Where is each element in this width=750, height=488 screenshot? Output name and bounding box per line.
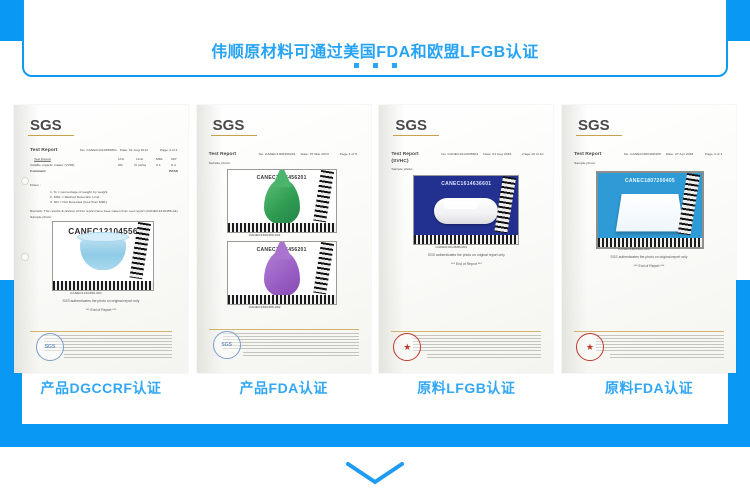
footer-contact	[427, 354, 541, 360]
report-page: Page 10 of 10	[522, 152, 543, 156]
report-date: Date: 01 Aug 2012	[120, 148, 148, 152]
note-3: 3. ND = Not Detected (less than MDL)	[50, 200, 107, 204]
caption-cert-2: 产品FDA认证	[197, 378, 371, 398]
ruler-bottom	[598, 238, 702, 247]
report-number: No. CANEC1306456201	[259, 152, 296, 156]
certificate-card-4[interactable]: SGS Test Report No. CANEC1807200405 Date…	[562, 105, 736, 373]
report-sublabel: (SVHC)	[391, 158, 408, 163]
report-page: Page 4 of 4	[160, 148, 177, 152]
footer-fineprint	[223, 333, 359, 349]
caption-cert-4: 原料FDA认证	[562, 378, 736, 398]
sample-photo: CANEC1614636601	[413, 175, 519, 245]
row-value-sample: 0.4	[171, 163, 176, 167]
photo-caption: CANEC1210456-001	[70, 291, 102, 295]
conclusion-label: Comment	[30, 169, 46, 173]
certificate-card-3[interactable]: SGS Test Report (SVHC) No. CANEC16146366…	[379, 105, 553, 373]
sgs-logo: SGS	[578, 117, 610, 134]
white-case-object	[434, 198, 498, 224]
report-label: Test Report	[209, 151, 236, 156]
report-number: No. CANEC1210456801	[80, 148, 117, 152]
white-sheet-object	[616, 195, 684, 232]
ruler-bottom	[414, 235, 518, 244]
report-label: Test Report	[391, 151, 418, 156]
star-icon: ★	[586, 343, 594, 352]
sgs-logo: SGS	[395, 117, 427, 134]
dot-1	[354, 63, 359, 68]
report-page: Page 4 of 4	[705, 152, 722, 156]
sample-photo-label: Sample photo:	[574, 161, 596, 165]
sample-photo-label: Sample photo:	[391, 167, 413, 171]
sgs-seal: SGS	[213, 331, 241, 359]
column-sample: 007	[171, 157, 177, 161]
edge-accent-top-left	[0, 0, 22, 41]
dot-3	[392, 63, 397, 68]
edge-accent-top-right	[728, 0, 750, 41]
end-of-report: *** End of Report ***	[379, 262, 553, 266]
caption-cert-3: 原料LFGB认证	[379, 378, 553, 398]
dot-2	[373, 63, 378, 68]
certificate-card-1[interactable]: SGS Test Report No. CANEC1210456801 Date…	[14, 105, 188, 373]
certification-section: 资质荣誉 伟顺原材料可通过美国FDA和欧盟LFGB认证 SGS Test Rep…	[0, 0, 750, 479]
remark-line: Remark: The results & photos of this rep…	[30, 209, 178, 213]
row-value-unit: #%	[118, 163, 123, 167]
sample-photo-label: Sample photo:	[30, 215, 52, 219]
photo-caption: CANEC1614636-001	[435, 245, 467, 249]
purple-drop-object	[264, 251, 300, 297]
footer-contact	[610, 354, 724, 360]
notes-label: Notes :	[30, 183, 41, 187]
conclusion-value: PASS	[169, 169, 178, 173]
report-date: Date: 27 Apr 2018	[666, 152, 693, 156]
footer-contact	[64, 354, 172, 360]
column-unit: Unit	[118, 157, 124, 161]
binder-hole	[21, 253, 29, 261]
certificate-gallery: SGS Test Report No. CANEC1210456801 Date…	[14, 105, 736, 373]
sample-photo: CANEC12104556	[52, 221, 154, 291]
footer-fineprint	[596, 335, 724, 351]
ruler-bottom	[228, 223, 336, 232]
footer-contact	[243, 352, 359, 358]
blue-bowl-object	[80, 236, 126, 270]
report-label: Test Report	[30, 147, 57, 152]
end-of-report: *** End of Report ***	[562, 264, 736, 268]
report-label: Test Report	[574, 151, 601, 156]
row-value-limit: % (w/w)	[134, 163, 146, 167]
photo-caption-1: CANEC1306456-001	[249, 233, 281, 237]
sample-photo-2: CANEC1306456201	[227, 241, 337, 305]
accreditation-seal: ★	[576, 333, 604, 361]
report-number: No. CANEC1807200405	[624, 152, 661, 156]
sgs-seal: SGS	[36, 333, 64, 361]
ruler-bottom	[228, 295, 336, 304]
auth-note: SGS authenticates the photo on original …	[14, 299, 188, 303]
certificate-card-2[interactable]: SGS Test Report No. CANEC1306456201 Date…	[197, 105, 371, 373]
sample-photo: CANEC1807200405	[596, 171, 704, 249]
binder-hole	[21, 177, 29, 185]
column-mdl: MDL	[156, 157, 163, 161]
sgs-logo: SGS	[213, 117, 245, 134]
column-limit: Limit	[136, 157, 143, 161]
row-value-mdl: 0.1	[156, 163, 161, 167]
report-page: Page 4 of 5	[340, 152, 357, 156]
sample-photo-label: Sample photo:	[209, 161, 231, 165]
photo-caption: CANEC1807200-001	[618, 247, 650, 251]
decorative-dots	[24, 63, 726, 68]
note-1: 1. % = percentage of weight by weight	[50, 190, 107, 194]
report-date: Date: 07 Mar 2013	[301, 152, 329, 156]
section-subtitle: 伟顺原材料可通过美国FDA和欧盟LFGB认证	[24, 38, 726, 62]
caption-cert-1: 产品DGCCRF认证	[14, 378, 188, 398]
report-date: Date: 01 Aug 2016	[483, 152, 511, 156]
end-of-report: *** End of Report ***	[14, 308, 188, 312]
ruler-bottom	[53, 281, 153, 290]
report-number: No. CANEC1614636601	[441, 152, 478, 156]
sgs-logo: SGS	[30, 117, 62, 134]
footer-fineprint	[413, 335, 541, 351]
certificate-captions: 产品DGCCRF认证 产品FDA认证 原料LFGB认证 原料FDA认证	[14, 378, 736, 398]
row-label: Volatile organic matter (VOM)	[30, 163, 74, 167]
star-icon: ★	[403, 343, 411, 352]
note-2: 2. MDL = Method Detection Limit	[50, 195, 99, 199]
sample-photo-1: CANEC1306456201	[227, 169, 337, 233]
bottom-accent-bar	[0, 424, 750, 447]
photo-caption-2: CANEC1306456-002	[249, 305, 281, 309]
header-card: 资质荣誉 伟顺原材料可通过美国FDA和欧盟LFGB认证	[22, 0, 728, 77]
auth-note: SGS authenticates the photo on original …	[379, 253, 553, 257]
chevron-down-icon[interactable]	[346, 462, 404, 488]
green-drop-object	[264, 179, 300, 225]
test-result-label: Test Result	[34, 157, 51, 161]
auth-note: SGS authenticates the photo on original …	[562, 255, 736, 259]
